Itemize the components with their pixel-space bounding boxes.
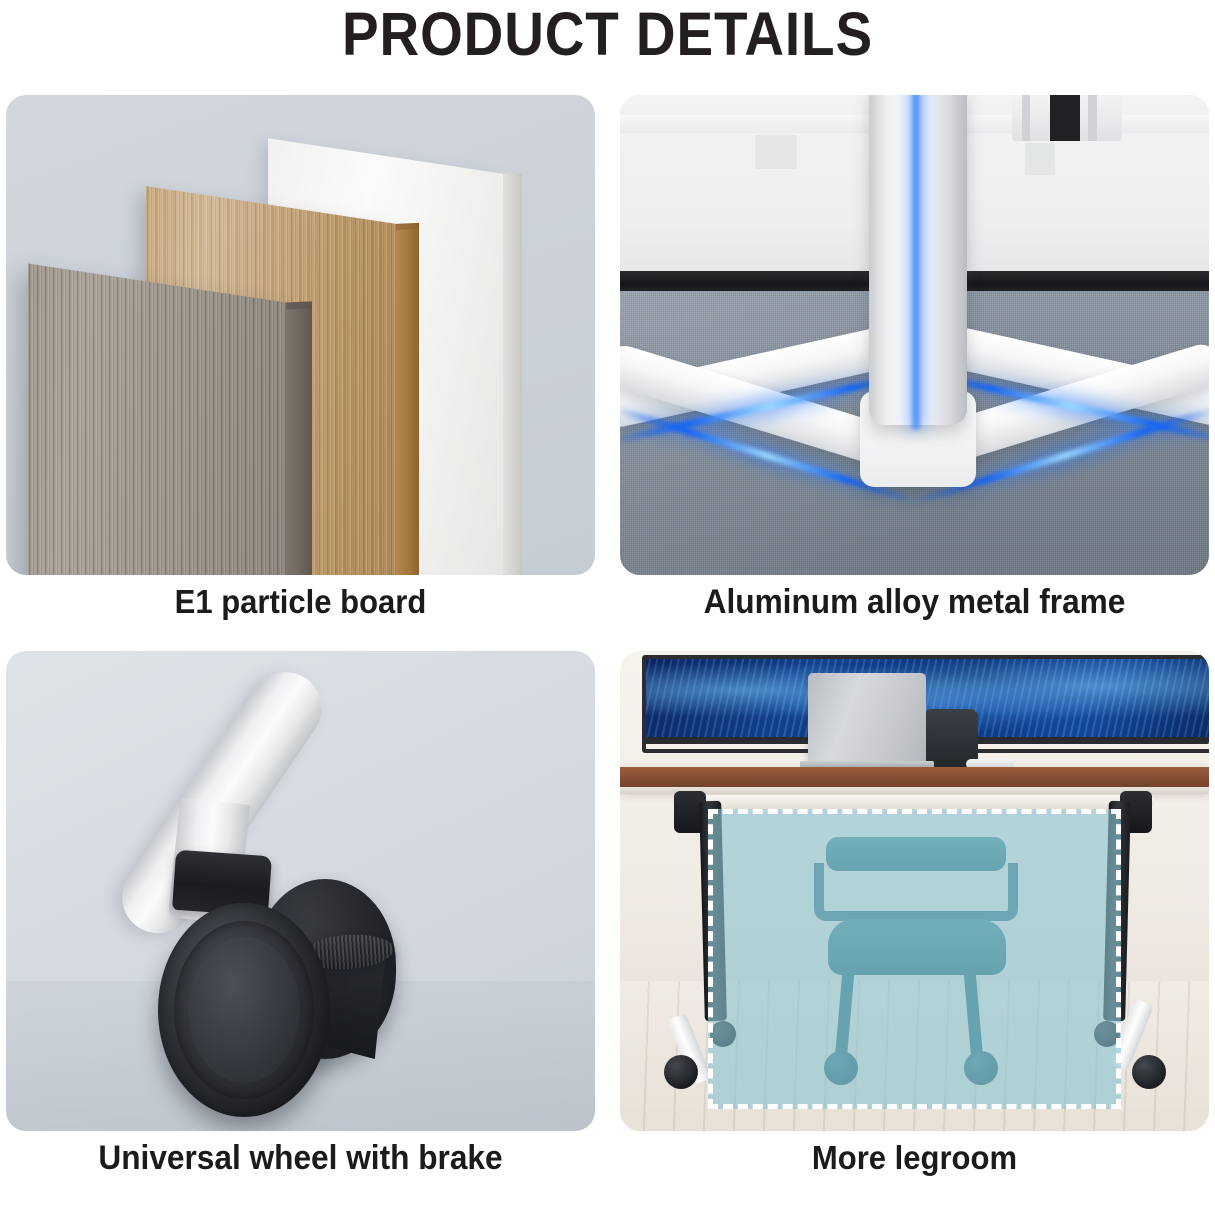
feature-cell-more-legroom: More legroom (620, 651, 1209, 1131)
grey-board-edge (286, 301, 312, 575)
column-glow-line (912, 95, 920, 429)
particle-board-image (6, 95, 595, 575)
desk-caster-outer-right (1132, 1055, 1166, 1089)
device-slot-right (1088, 95, 1097, 141)
feature-cell-metal-frame: Aluminum alloy metal frame (620, 95, 1209, 575)
desk-top (620, 767, 1209, 789)
desk-modesty-rail (676, 795, 1154, 809)
laptop (808, 673, 926, 767)
grey-board (28, 263, 286, 575)
more-legroom-image (620, 651, 1209, 1131)
desk-caster-outer-left (664, 1055, 698, 1089)
oak-board-edge (396, 223, 419, 575)
caption-particle-board: E1 particle board (24, 583, 578, 621)
caption-metal-frame: Aluminum alloy metal frame (641, 583, 1189, 622)
caption-universal-wheel: Universal wheel with brake (27, 1139, 575, 1178)
device-slot-left (1022, 95, 1030, 141)
product-details-page: PRODUCT DETAILS E1 particle board (0, 0, 1215, 1205)
wall-mounted-device (1012, 95, 1122, 141)
caster-wheel-front (158, 903, 330, 1117)
metal-frame-image (620, 95, 1209, 575)
frame-center-column (869, 95, 967, 425)
page-title: PRODUCT DETAILS (61, 0, 1155, 70)
legroom-highlight-area (708, 809, 1121, 1109)
feature-cell-particle-board: E1 particle board (6, 95, 595, 575)
wall-shape-left (755, 135, 797, 169)
wall-shape-right (1025, 143, 1055, 175)
universal-wheel-image (6, 651, 595, 1131)
feature-panel-grid: E1 particle board (6, 95, 1209, 1200)
feature-cell-universal-wheel: Universal wheel with brake (6, 651, 595, 1131)
white-board-edge (503, 173, 522, 575)
device-dark-band (1050, 95, 1080, 141)
caption-more-legroom: More legroom (638, 1139, 1192, 1177)
grey-board-face (28, 263, 286, 575)
